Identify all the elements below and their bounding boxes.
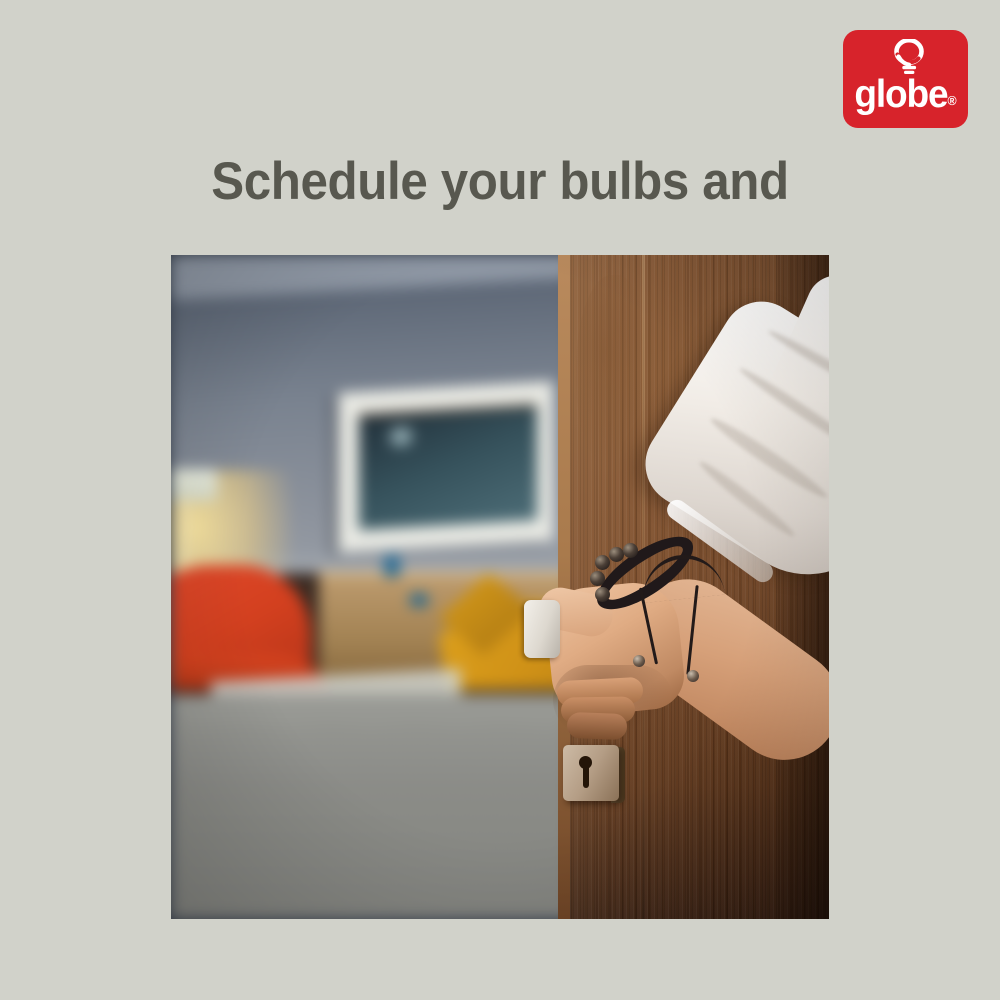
- finger: [567, 712, 628, 740]
- bracelet-cord-bead: [633, 655, 645, 667]
- lamp-shade: [171, 469, 217, 501]
- bracelet-bead: [595, 555, 610, 570]
- wall-mounted-tv: [338, 381, 553, 553]
- living-room-background: [171, 255, 571, 919]
- tv-screen: [359, 404, 537, 530]
- door-handle[interactable]: [524, 600, 560, 658]
- brand-logo[interactable]: globe®: [843, 30, 968, 128]
- bracelet-cord-bead: [687, 670, 699, 682]
- bracelet-bead: [623, 543, 638, 558]
- headline-line-1: Schedule your bulbs and: [35, 147, 965, 216]
- promo-poster: Schedule your bulbs and outlet to turn O…: [0, 0, 1000, 1000]
- blue-decor-object: [384, 555, 400, 577]
- registered-trademark-symbol: ®: [947, 93, 956, 108]
- logo-wordmark-text: globe: [854, 73, 947, 116]
- blue-decor-object-2: [409, 593, 429, 607]
- hero-photo: [171, 255, 829, 919]
- carpet-texture: [171, 725, 571, 919]
- bracelet-bead: [590, 571, 605, 586]
- keyhole-plate: [563, 745, 619, 801]
- logo-wordmark: globe®: [846, 74, 965, 122]
- bracelet-bead: [595, 587, 610, 602]
- bracelet-bead: [609, 547, 624, 562]
- keyhole-slot: [583, 765, 589, 788]
